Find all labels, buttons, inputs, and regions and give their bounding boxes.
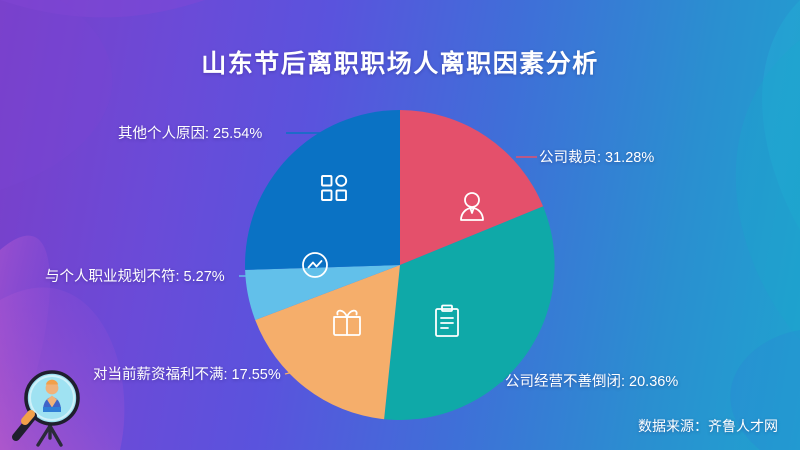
magnifier-person-illustration <box>6 352 98 448</box>
pie-label-other: 其他个人原因: 25.54% <box>118 122 262 143</box>
pie-label-layoff: 公司裁员: 31.28% <box>539 146 654 167</box>
pie-label-career: 与个人职业规划不符: 5.27% <box>45 265 225 286</box>
data-source-note: 数据来源：齐鲁人才网 <box>638 416 778 436</box>
pie-label-closure: 公司经营不善倒闭: 20.36% <box>505 370 678 391</box>
infographic-canvas: 山东节后离职职场人离职因素分析 <box>0 0 800 450</box>
pie-label-salary: 对当前薪资福利不满: 17.55% <box>93 363 281 384</box>
